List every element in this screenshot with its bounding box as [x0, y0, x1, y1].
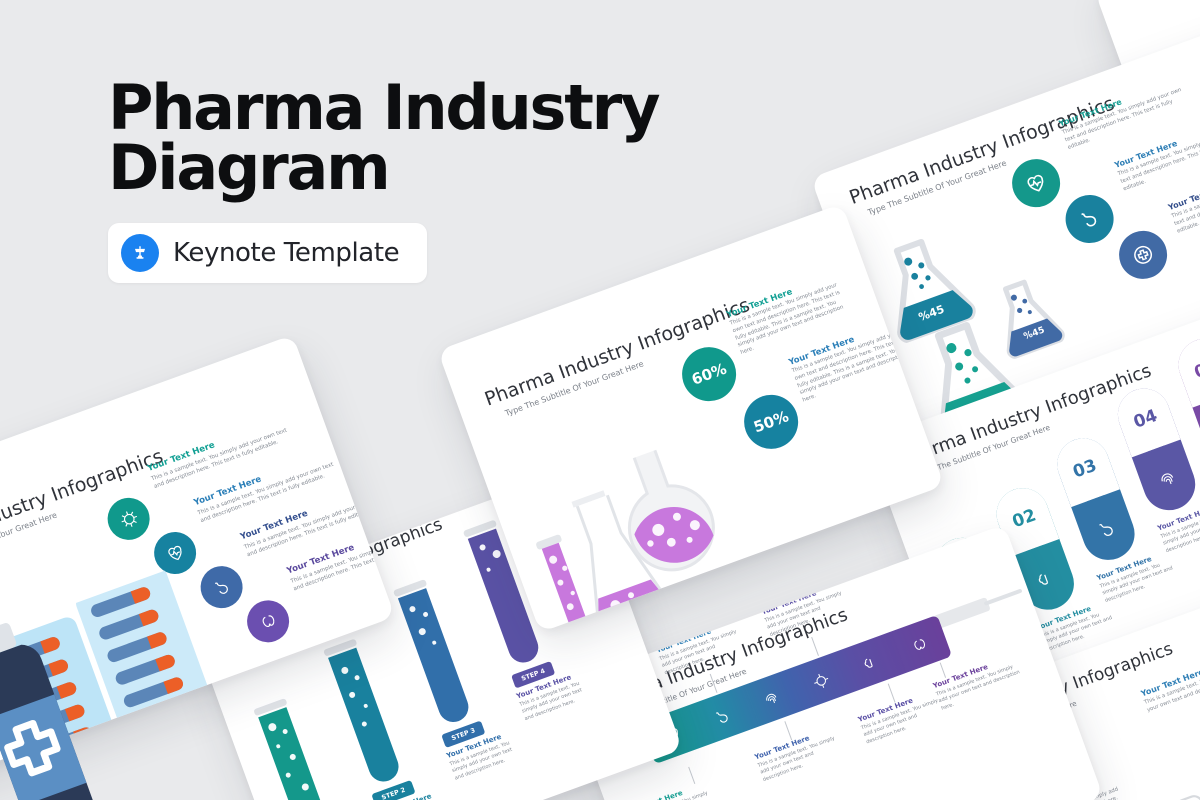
- icon-circle-medical-cross[interactable]: [1112, 224, 1174, 286]
- fingerprint-icon: [759, 686, 783, 710]
- tube-body: [398, 588, 473, 726]
- stomach-icon: [1074, 204, 1105, 235]
- virus-icon: [809, 668, 833, 692]
- syringe-segment[interactable]: [892, 627, 948, 663]
- test-tube-3[interactable]: [393, 579, 474, 726]
- folder-shape: [1127, 776, 1200, 800]
- text-block: Your Text Here This is a sample text. Yo…: [857, 688, 947, 747]
- icon-circle-stomach[interactable]: [1059, 188, 1121, 250]
- heart-pulse-icon: [1021, 168, 1052, 199]
- tube-body: [328, 648, 403, 786]
- syringe-plunger: [933, 597, 990, 629]
- kidneys-icon: [255, 608, 282, 635]
- keynote-template-badge[interactable]: Keynote Template: [108, 223, 427, 283]
- percent-value: 60%: [689, 360, 729, 389]
- syringe-segment[interactable]: [793, 663, 849, 699]
- leader-line: [940, 662, 946, 677]
- medicine-bottle-art: [0, 596, 252, 800]
- virus-icon: [115, 505, 142, 532]
- page-title: Pharma Industry Diagram: [108, 78, 658, 197]
- test-tube-2[interactable]: [323, 639, 404, 786]
- syringe-segment[interactable]: [842, 645, 898, 681]
- leader-line: [811, 637, 819, 656]
- kidneys-icon: [908, 632, 932, 656]
- capsule-number: 05: [1171, 332, 1200, 408]
- page-title: Pharma Industry Infographics: [846, 92, 1117, 209]
- stomach-icon: [710, 704, 734, 728]
- capsule-03[interactable]: 03: [1050, 431, 1142, 567]
- syringe-needle: [984, 588, 1023, 605]
- fingerprint-icon: [1153, 466, 1181, 494]
- hero-block: Pharma Industry Diagram Keynote Template: [108, 78, 658, 283]
- brain-icon: [1032, 565, 1060, 593]
- capsule-04[interactable]: 04: [1111, 381, 1200, 517]
- badge-label: Keynote Template: [173, 238, 399, 268]
- syringe-segment[interactable]: [694, 699, 750, 735]
- text-block: Your Text Here This is a sample text. Yo…: [627, 780, 717, 800]
- medical-cross-icon: [1128, 240, 1159, 271]
- stomach-icon: [1093, 515, 1121, 543]
- leader-line: [688, 767, 695, 784]
- keynote-podium-icon: [121, 234, 159, 272]
- icon-circle-virus[interactable]: [102, 492, 156, 546]
- syringe-segment[interactable]: [743, 681, 799, 717]
- icon-circle-heart-pulse[interactable]: [1005, 152, 1067, 214]
- leader-line: [784, 721, 792, 740]
- capsule-icon-slot: [1133, 442, 1200, 518]
- percent-circle-60[interactable]: 60%: [674, 340, 743, 409]
- text-block: Your Text Here This is a sample text. Yo…: [754, 725, 844, 784]
- brain-icon: [858, 650, 882, 674]
- capsule-icon-slot: [1072, 492, 1142, 568]
- text-block: Your Text Here This is a sample text. Yo…: [932, 651, 1029, 712]
- leader-line: [888, 683, 896, 702]
